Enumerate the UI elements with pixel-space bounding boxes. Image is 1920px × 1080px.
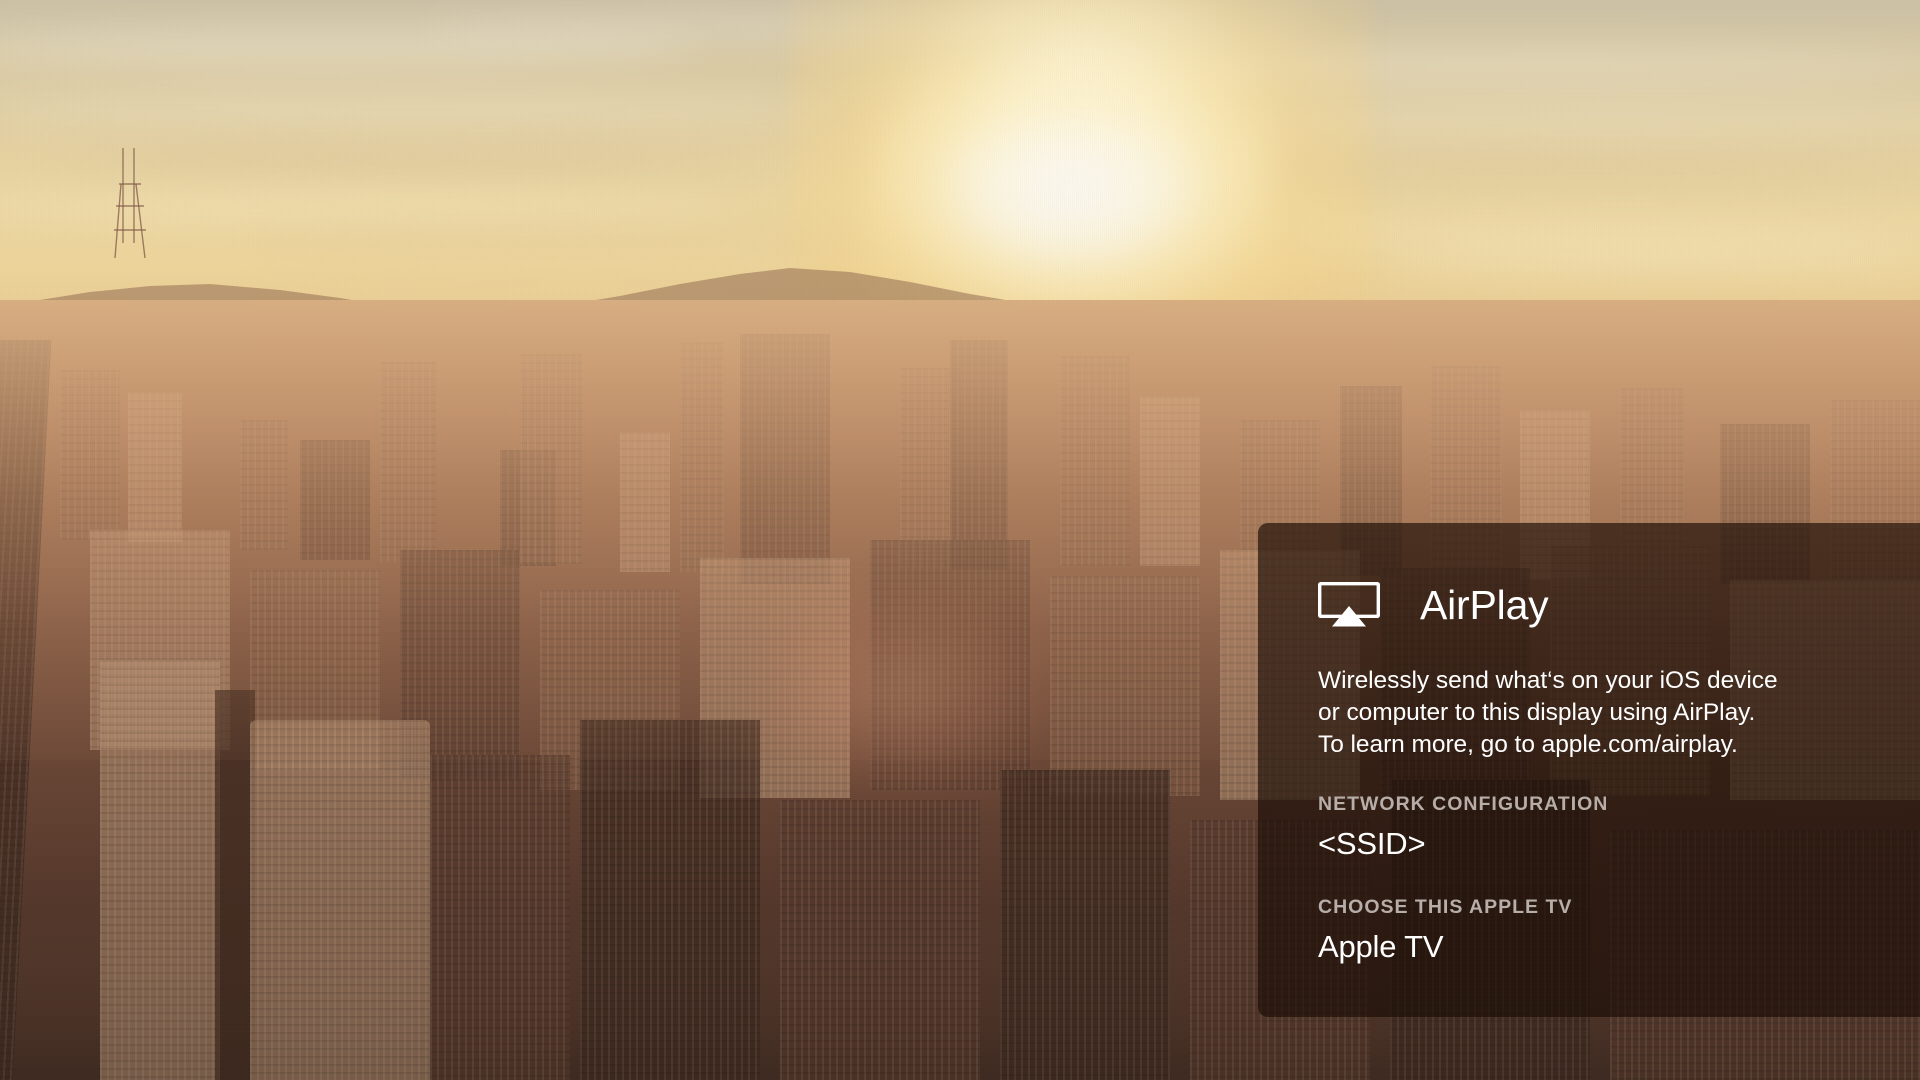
description-line: or computer to this display using AirPla…: [1318, 697, 1838, 729]
building: [950, 340, 1008, 570]
apple-tv-device-name: Apple TV: [1318, 931, 1920, 964]
network-ssid-value: <SSID>: [1318, 828, 1920, 861]
cloud-band: [0, 96, 840, 122]
network-configuration-label: NETWORK CONFIGURATION: [1318, 795, 1920, 815]
building: [580, 720, 760, 1080]
building: [1140, 396, 1200, 566]
apple-tv-screen: AirPlay Wirelessly send what‘s on your i…: [0, 0, 1920, 1080]
building: [128, 392, 182, 542]
building: [240, 420, 288, 550]
building: [380, 362, 436, 562]
building: [1000, 770, 1170, 1080]
building: [1060, 356, 1130, 566]
building: [740, 334, 830, 584]
network-configuration-section: NETWORK CONFIGURATION <SSID>: [1318, 795, 1920, 860]
description-line: Wirelessly send what‘s on your iOS devic…: [1318, 665, 1838, 697]
building: [60, 370, 120, 540]
cloud-band: [60, 150, 760, 174]
choose-apple-tv-label: CHOOSE THIS APPLE TV: [1318, 898, 1920, 918]
building: [0, 340, 51, 1080]
building: [300, 440, 370, 560]
description-line: To learn more, go to apple.com/airplay.: [1318, 729, 1838, 761]
panel-header: AirPlay: [1318, 581, 1920, 629]
lens-flare: [760, 590, 1040, 800]
sutro-tower-icon: [112, 148, 148, 258]
page-title: AirPlay: [1420, 585, 1548, 626]
building: [250, 720, 430, 1080]
choose-apple-tv-section: CHOOSE THIS APPLE TV Apple TV: [1318, 898, 1920, 963]
panel-description: Wirelessly send what‘s on your iOS devic…: [1318, 665, 1838, 761]
building: [1050, 576, 1200, 796]
building: [520, 354, 582, 564]
building: [430, 755, 570, 1080]
airplay-icon: [1318, 582, 1380, 628]
building: [620, 432, 670, 572]
building: [780, 800, 980, 1080]
building: [100, 660, 220, 1080]
building: [215, 690, 255, 1080]
building: [680, 342, 724, 572]
airplay-info-panel: AirPlay Wirelessly send what‘s on your i…: [1258, 523, 1920, 1017]
